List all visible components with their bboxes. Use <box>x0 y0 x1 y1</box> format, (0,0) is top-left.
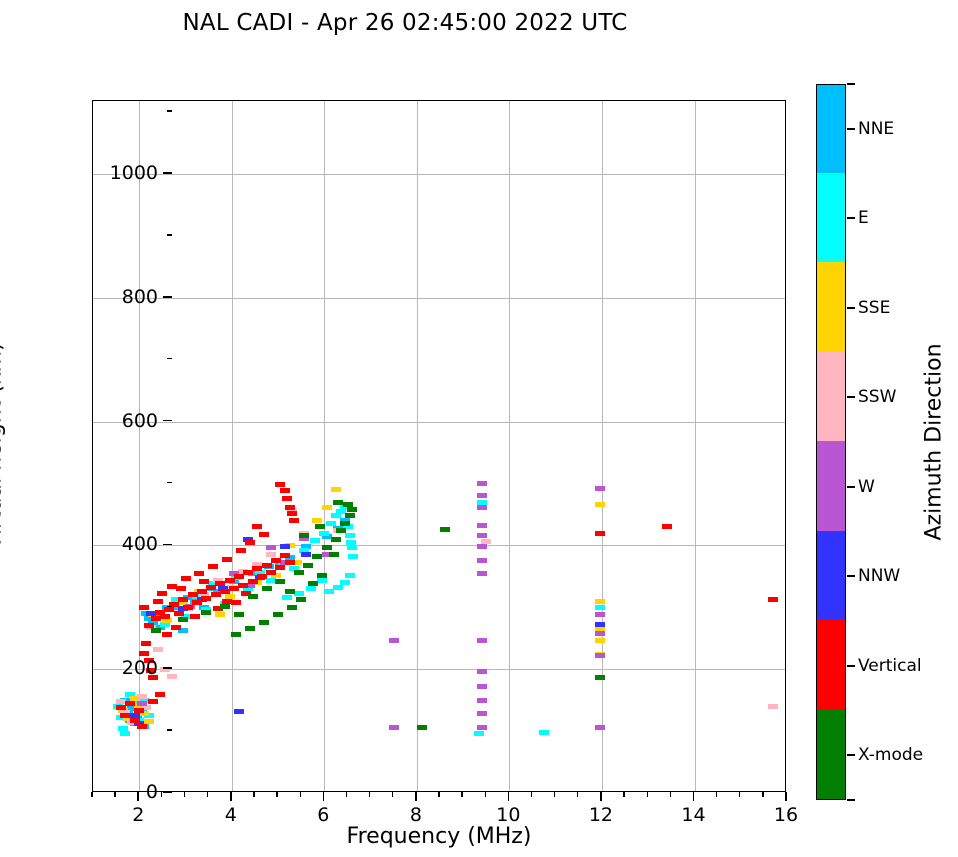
colorbar-segment-vertical <box>817 620 845 710</box>
echo-point <box>595 638 605 643</box>
echo-point <box>477 505 487 510</box>
echo-point <box>245 540 255 545</box>
x-axis-minor-tick <box>300 792 301 797</box>
echo-point <box>194 571 204 576</box>
colorbar-tick <box>847 665 855 667</box>
echo-point <box>595 622 605 627</box>
echo-point <box>312 554 322 559</box>
colorbar-segment-nnw <box>817 531 845 621</box>
colorbar-tick <box>847 799 855 801</box>
echo-point <box>252 524 262 529</box>
echo-point <box>178 597 188 602</box>
echo-point <box>333 585 343 590</box>
echo-point <box>345 573 355 578</box>
echo-point <box>153 599 163 604</box>
echo-point <box>417 725 427 730</box>
x-axis-minor-tick <box>716 792 717 797</box>
x-axis-minor-tick <box>91 792 92 797</box>
echo-point <box>347 545 357 550</box>
x-axis-minor-tick <box>762 792 763 797</box>
echo-point <box>595 612 605 617</box>
colorbar-tick <box>847 575 855 577</box>
echo-point <box>299 533 309 538</box>
echo-point <box>201 610 211 615</box>
x-axis-label: Frequency (MHz) <box>347 824 532 849</box>
echo-point <box>336 528 346 533</box>
x-axis-minor-tick <box>438 792 439 797</box>
echo-point <box>155 692 165 697</box>
echo-point <box>125 701 135 706</box>
y-axis-minor-tick <box>167 729 172 730</box>
echo-point <box>294 570 304 575</box>
colorbar-tick <box>847 128 855 130</box>
echo-point <box>160 614 170 619</box>
echo-point <box>285 505 295 510</box>
echo-point <box>151 628 161 633</box>
echo-point <box>215 612 225 617</box>
echo-point <box>477 544 487 549</box>
y-axis-tick-label: 600 <box>122 410 158 432</box>
echo-point <box>248 579 258 584</box>
y-axis-tick <box>163 791 172 793</box>
echo-point <box>595 675 605 680</box>
echo-point <box>333 500 343 505</box>
echo-point <box>181 576 191 581</box>
y-axis-minor-tick <box>167 358 172 359</box>
echo-point <box>262 563 272 568</box>
x-axis-minor-tick <box>114 792 115 797</box>
colorbar-label-sse: SSE <box>858 298 890 318</box>
echo-point <box>331 513 341 518</box>
echo-point <box>322 545 332 550</box>
echo-point <box>148 699 158 704</box>
echo-point <box>477 638 487 643</box>
x-axis-tick <box>785 792 787 801</box>
echo-point <box>130 718 140 723</box>
echo-point <box>222 557 232 562</box>
echo-point <box>595 605 605 610</box>
y-axis-minor-tick <box>167 482 172 483</box>
y-axis-tick-label: 400 <box>122 533 158 555</box>
echo-point <box>440 527 450 532</box>
echo-point <box>315 524 325 529</box>
echo-point <box>282 595 292 600</box>
colorbar-tick <box>847 83 855 85</box>
echo-point <box>245 626 255 631</box>
x-axis-minor-tick <box>369 792 370 797</box>
echo-point <box>275 579 285 584</box>
echo-point <box>477 698 487 703</box>
echo-point <box>287 511 297 516</box>
echo-point <box>153 647 163 652</box>
y-axis-minor-tick <box>167 110 172 111</box>
colorbar-segment-x-mode <box>817 710 845 800</box>
echo-point <box>347 507 357 512</box>
x-axis-minor-tick <box>161 792 162 797</box>
colorbar-label-nnw: NNW <box>858 566 900 586</box>
x-axis-minor-tick <box>647 792 648 797</box>
x-axis-tick-label: 12 <box>589 804 613 826</box>
x-axis-tick-label: 2 <box>132 804 144 826</box>
echo-point <box>331 537 341 542</box>
echo-point <box>301 552 311 557</box>
y-axis-tick <box>163 172 172 174</box>
echo-point <box>275 482 285 487</box>
echo-point <box>259 532 269 537</box>
echo-point <box>477 711 487 716</box>
echo-point <box>662 524 672 529</box>
echo-point <box>162 632 172 637</box>
echo-point <box>139 605 149 610</box>
colorbar-segment-e <box>817 173 845 263</box>
echo-point <box>171 625 181 630</box>
echo-point <box>137 694 147 699</box>
echo-point <box>208 564 218 569</box>
echo-point <box>231 632 241 637</box>
echo-point <box>134 708 144 713</box>
echo-point <box>178 617 188 622</box>
echo-point <box>294 591 304 596</box>
y-axis-tick <box>163 667 172 669</box>
colorbar-tick <box>847 486 855 488</box>
echo-point <box>306 586 316 591</box>
ionogram-data-layer <box>93 101 785 791</box>
echo-point <box>266 552 276 557</box>
colorbar-label-w: W <box>858 477 875 497</box>
x-axis-tick <box>600 792 602 801</box>
echo-point <box>137 701 147 706</box>
echo-point <box>474 731 484 736</box>
colorbar-segment-w <box>817 441 845 531</box>
echo-point <box>280 553 290 558</box>
plot-area <box>92 100 786 792</box>
echo-point <box>296 597 306 602</box>
colorbar-tick <box>847 307 855 309</box>
x-axis-minor-tick <box>276 792 277 797</box>
x-axis-tick-label: 8 <box>410 804 422 826</box>
echo-point <box>282 496 292 501</box>
echo-point <box>174 611 184 616</box>
echo-point <box>317 573 327 578</box>
echo-point <box>477 669 487 674</box>
echo-point <box>273 612 283 617</box>
echo-point <box>331 487 341 492</box>
echo-point <box>162 618 172 623</box>
echo-point <box>595 502 605 507</box>
x-axis-minor-tick <box>554 792 555 797</box>
echo-point <box>319 531 329 536</box>
echo-point <box>595 531 605 536</box>
echo-point <box>220 604 230 609</box>
echo-point <box>595 725 605 730</box>
echo-point <box>141 641 151 646</box>
echo-point <box>595 599 605 604</box>
x-axis-tick-label: 10 <box>496 804 520 826</box>
echo-point <box>176 586 186 591</box>
x-axis-minor-tick <box>531 792 532 797</box>
echo-point <box>287 605 297 610</box>
colorbar-segment-sse <box>817 262 845 352</box>
echo-point <box>280 488 290 493</box>
echo-point <box>477 481 487 486</box>
y-axis-tick-label: 200 <box>122 657 158 679</box>
x-axis-minor-tick <box>485 792 486 797</box>
echo-point <box>139 651 149 656</box>
echo-point <box>595 631 605 636</box>
echo-point <box>326 521 336 526</box>
y-axis-tick-label: 0 <box>146 781 158 803</box>
echo-point <box>280 544 290 549</box>
x-axis-tick <box>230 792 232 801</box>
echo-point <box>248 594 258 599</box>
echo-point <box>308 581 318 586</box>
x-axis-minor-tick <box>623 792 624 797</box>
echo-point <box>275 565 285 570</box>
x-axis-tick-label: 14 <box>681 804 705 826</box>
colorbar-tick <box>847 754 855 756</box>
echo-point <box>595 653 605 658</box>
x-axis-tick-label: 6 <box>317 804 329 826</box>
echo-point <box>329 552 339 557</box>
echo-point <box>120 731 130 736</box>
echo-point <box>234 709 244 714</box>
colorbar-label-x-mode: X-mode <box>858 745 923 765</box>
echo-point <box>477 684 487 689</box>
y-axis-tick <box>163 420 172 422</box>
colorbar-segment-nne <box>817 84 845 173</box>
echo-point <box>234 612 244 617</box>
x-axis-tick <box>693 792 695 801</box>
colorbar-label-ssw: SSW <box>858 387 896 407</box>
colorbar-label-e: E <box>858 208 869 228</box>
colorbar-tick <box>847 217 855 219</box>
echo-point <box>477 571 487 576</box>
echo-point <box>266 570 276 575</box>
echo-point <box>477 523 487 528</box>
echo-point <box>303 563 313 568</box>
x-axis-minor-tick <box>392 792 393 797</box>
y-axis-tick <box>163 296 172 298</box>
colorbar-title: Azimuth Direction <box>922 343 947 540</box>
echo-point <box>262 586 272 591</box>
colorbar-segment-ssw <box>817 352 845 442</box>
colorbar-label-vertical: Vertical <box>858 656 922 676</box>
echo-point <box>539 730 549 735</box>
x-axis-minor-tick <box>739 792 740 797</box>
echo-point <box>345 533 355 538</box>
y-axis-tick-label: 800 <box>122 286 158 308</box>
echo-point <box>190 614 200 619</box>
echo-point <box>477 558 487 563</box>
x-axis-minor-tick <box>461 792 462 797</box>
echo-point <box>266 545 276 550</box>
echo-point <box>183 605 193 610</box>
echo-point <box>768 597 778 602</box>
echo-point <box>167 674 177 679</box>
x-axis-tick <box>508 792 510 801</box>
x-axis-tick <box>137 792 139 801</box>
colorbar-label-nne: NNE <box>858 119 894 139</box>
echo-point <box>310 538 320 543</box>
x-axis-tick-label: 4 <box>225 804 237 826</box>
x-axis-minor-tick <box>253 792 254 797</box>
echo-point <box>199 579 209 584</box>
x-axis-minor-tick <box>670 792 671 797</box>
echo-point <box>389 725 399 730</box>
echo-point <box>322 505 332 510</box>
echo-point <box>317 578 327 583</box>
echo-point <box>231 600 241 605</box>
echo-point <box>345 513 355 518</box>
colorbar <box>816 84 846 800</box>
y-axis-minor-tick <box>167 606 172 607</box>
echo-point <box>340 521 350 526</box>
echo-point <box>285 560 295 565</box>
echo-point <box>157 591 167 596</box>
echo-point <box>595 486 605 491</box>
echo-point <box>285 589 295 594</box>
echo-point <box>312 518 322 523</box>
x-axis-minor-tick <box>577 792 578 797</box>
echo-point <box>477 493 487 498</box>
echo-point <box>271 558 281 563</box>
echo-point <box>389 638 399 643</box>
x-axis-minor-tick <box>207 792 208 797</box>
echo-point <box>477 533 487 538</box>
echo-point <box>768 704 778 709</box>
x-axis-tick <box>323 792 325 801</box>
chart-title: NAL CADI - Apr 26 02:45:00 2022 UTC <box>0 10 810 36</box>
y-axis-tick <box>163 544 172 546</box>
x-axis-minor-tick <box>346 792 347 797</box>
echo-point <box>477 725 487 730</box>
y-axis-tick-label: 1000 <box>110 162 158 184</box>
echo-point <box>236 548 246 553</box>
x-axis-tick-label: 16 <box>774 804 798 826</box>
echo-point <box>137 724 147 729</box>
echo-point <box>348 554 358 559</box>
echo-point <box>259 620 269 625</box>
colorbar-tick <box>847 396 855 398</box>
y-axis-label: Virtual height (km) <box>0 342 7 549</box>
y-axis-minor-tick <box>167 234 172 235</box>
echo-point <box>289 518 299 523</box>
echo-point <box>324 589 334 594</box>
x-axis-minor-tick <box>184 792 185 797</box>
x-axis-tick <box>415 792 417 801</box>
